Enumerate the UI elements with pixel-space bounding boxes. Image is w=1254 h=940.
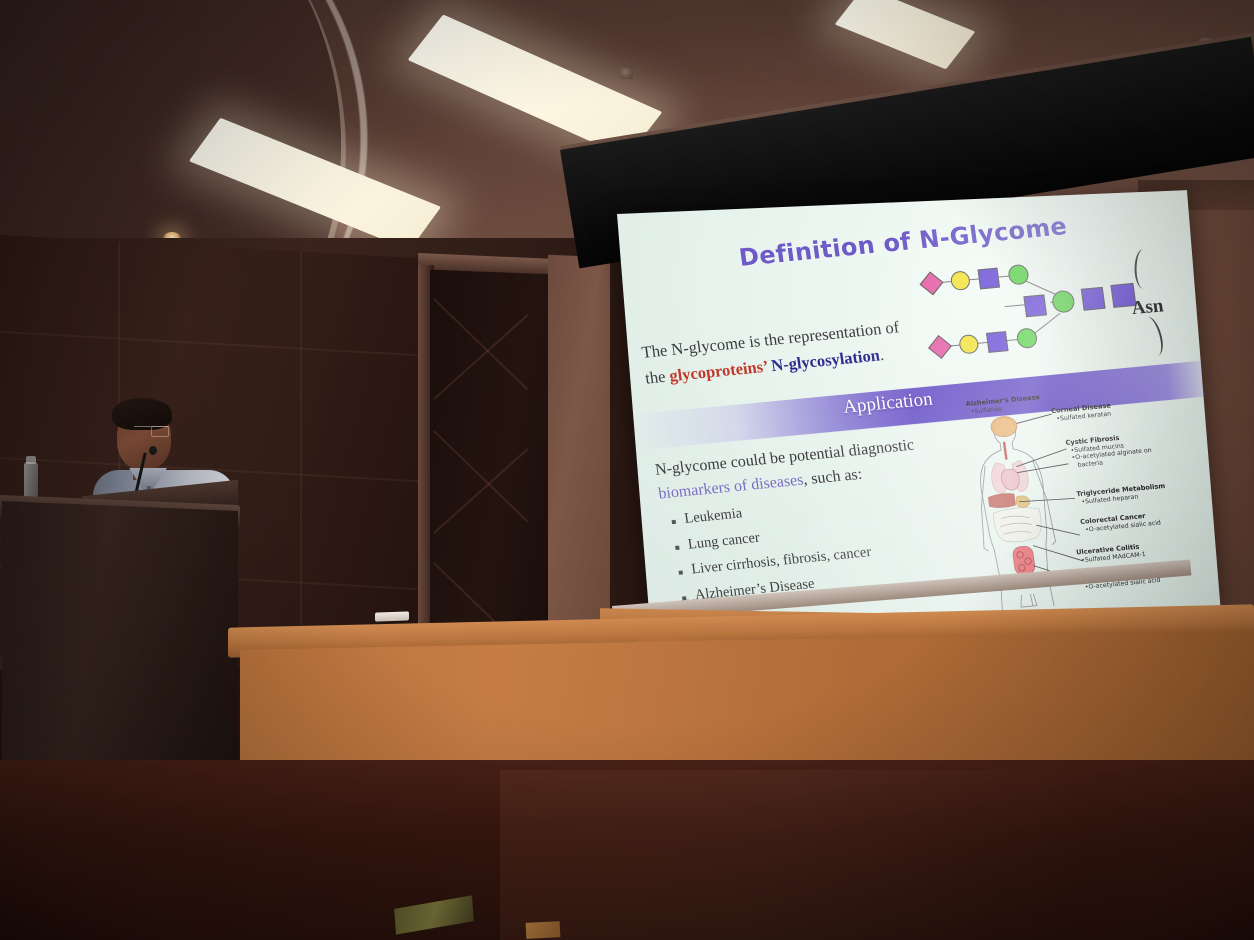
bullet-label: Leukemia <box>683 505 743 528</box>
water-bottle-cap <box>26 456 36 464</box>
definition-line2-prefix: the <box>644 366 671 387</box>
wall-column <box>548 255 610 657</box>
floor-reflection <box>500 770 1200 940</box>
lead-line2-rest: , such as: <box>802 466 863 489</box>
n-glycosylation-highlight: N-glycosylation <box>766 345 881 375</box>
slide-definition-text: The N-glycome is the representation of t… <box>640 309 955 391</box>
sprinkler-icon <box>620 68 633 79</box>
floor-object <box>526 921 561 939</box>
peptide-backbone-lower <box>1138 315 1166 358</box>
glycoproteins-highlight: glycoproteins’ <box>668 356 768 385</box>
galactose-circle-icon <box>958 334 979 355</box>
presenter-remote[interactable] <box>375 611 409 621</box>
bullet-square-icon <box>678 570 683 574</box>
bullet-label: Lung cancer <box>687 529 761 553</box>
glcnac-square-icon <box>978 268 1001 290</box>
glcnac-square-icon <box>986 331 1009 353</box>
glcnac-square-icon <box>1081 287 1106 311</box>
glcnac-square-icon <box>1023 294 1047 317</box>
mannose-circle-icon <box>1016 327 1039 349</box>
alcove-recess <box>430 270 550 646</box>
microphone-icon <box>149 446 157 455</box>
mannose-core-circle-icon <box>1051 290 1076 314</box>
bullet-square-icon <box>675 545 680 549</box>
bullet-square-icon <box>672 520 677 524</box>
lecture-hall-photo: Definition of N-Glycome The N-glycome is… <box>0 0 1254 940</box>
sialic-acid-diamond-icon <box>928 335 952 359</box>
peptide-backbone-upper <box>1134 249 1152 290</box>
sialic-acid-diamond-icon <box>920 271 944 295</box>
galactose-circle-icon <box>950 270 971 291</box>
glasses-icon <box>134 426 168 436</box>
asn-label: Asn <box>1130 295 1164 320</box>
